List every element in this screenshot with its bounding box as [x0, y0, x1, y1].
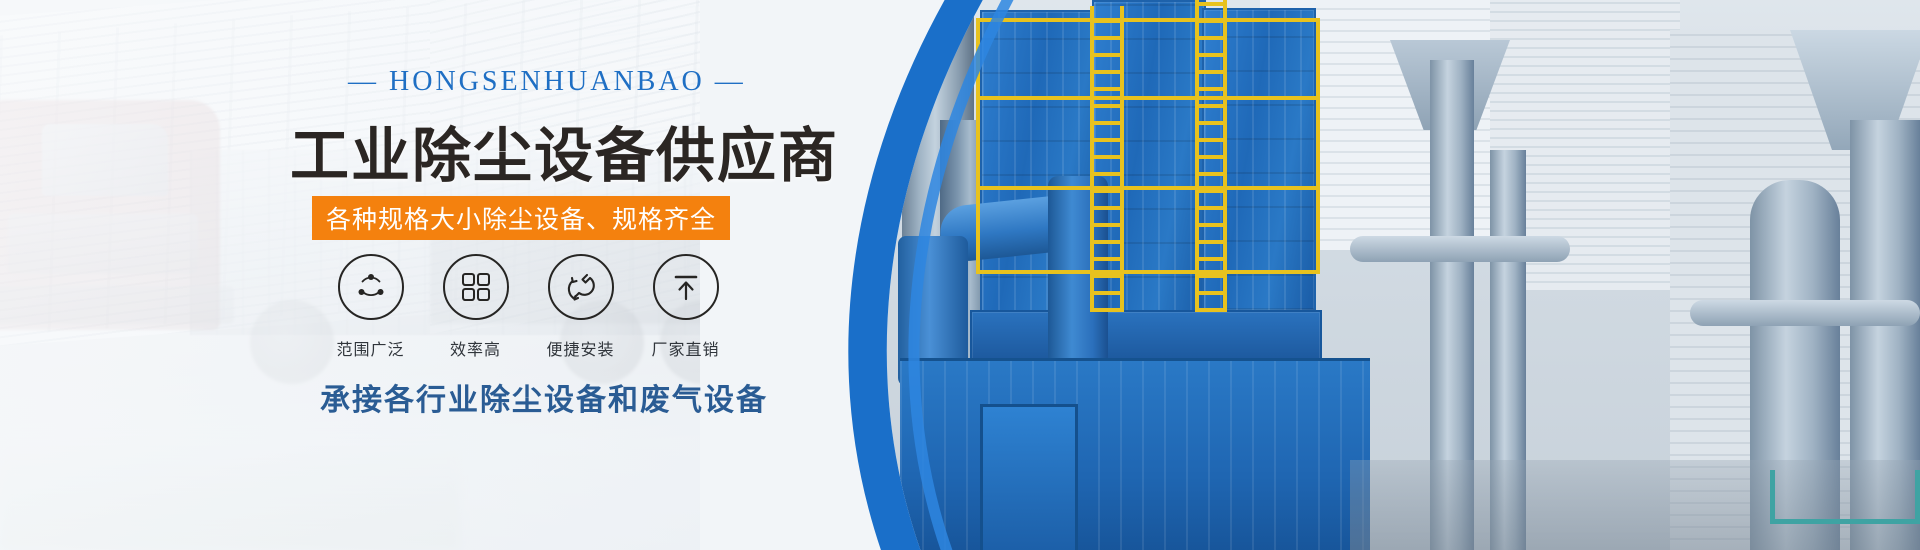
arrow-up-bar-icon [653, 254, 719, 320]
orange-subtitle-text: 各种规格大小除尘设备、规格齐全 [326, 200, 716, 236]
feature-item-installation[interactable]: 便捷安装 [528, 254, 633, 360]
eyebrow-dash-left: — [348, 66, 379, 98]
network-nodes-icon [338, 254, 404, 320]
access-door [980, 404, 1078, 550]
ground-platform [1350, 460, 1920, 550]
horizontal-pipe [1350, 236, 1570, 262]
page-title: 工业除尘设备供应商 [290, 108, 810, 193]
yellow-handrail [976, 96, 1320, 100]
banner-slogan: 承接各行业除尘设备和废气设备 [320, 375, 780, 419]
orange-subtitle-bar: 各种规格大小除尘设备、规格齐全 [312, 196, 730, 240]
feature-list: 范围广泛 效率高 [318, 254, 738, 360]
banner-content: — HONGSENHUANBAO — 工业除尘设备供应商 各种规格大小除尘设备、… [0, 0, 800, 550]
yellow-handrail [976, 18, 1320, 22]
grid-squares-icon [443, 254, 509, 320]
feature-item-range[interactable]: 范围广泛 [318, 254, 423, 360]
feature-item-factory-direct[interactable]: 厂家直销 [633, 254, 738, 360]
yellow-ladder [1195, 0, 1227, 312]
photo-dust-collector-plant [790, 0, 1920, 550]
teal-railing-post [1915, 470, 1920, 524]
wrench-refresh-icon [548, 254, 614, 320]
brand-pinyin-eyebrow: — HONGSENHUANBAO — [348, 66, 708, 98]
yellow-handrail-post [1316, 18, 1320, 274]
feature-label: 效率高 [450, 336, 501, 360]
feature-label: 便捷安装 [546, 336, 614, 360]
feature-label: 范围广泛 [336, 336, 404, 360]
eyebrow-dash-right: — [715, 66, 746, 98]
housing-panel-lines [900, 361, 1370, 550]
hero-banner: — HONGSENHUANBAO — 工业除尘设备供应商 各种规格大小除尘设备、… [0, 0, 1920, 550]
feature-item-efficiency[interactable]: 效率高 [423, 254, 528, 360]
yellow-handrail [976, 186, 1320, 190]
blue-lower-housing [900, 358, 1370, 550]
yellow-handrail-post [976, 18, 980, 274]
teal-railing-post [1770, 470, 1775, 524]
yellow-ladder [1090, 6, 1124, 312]
eyebrow-text: HONGSENHUANBAO [389, 66, 705, 97]
horizontal-pipe [1690, 300, 1920, 326]
teal-railing [1770, 519, 1920, 524]
feature-label: 厂家直销 [651, 336, 719, 360]
yellow-handrail [976, 270, 1320, 274]
